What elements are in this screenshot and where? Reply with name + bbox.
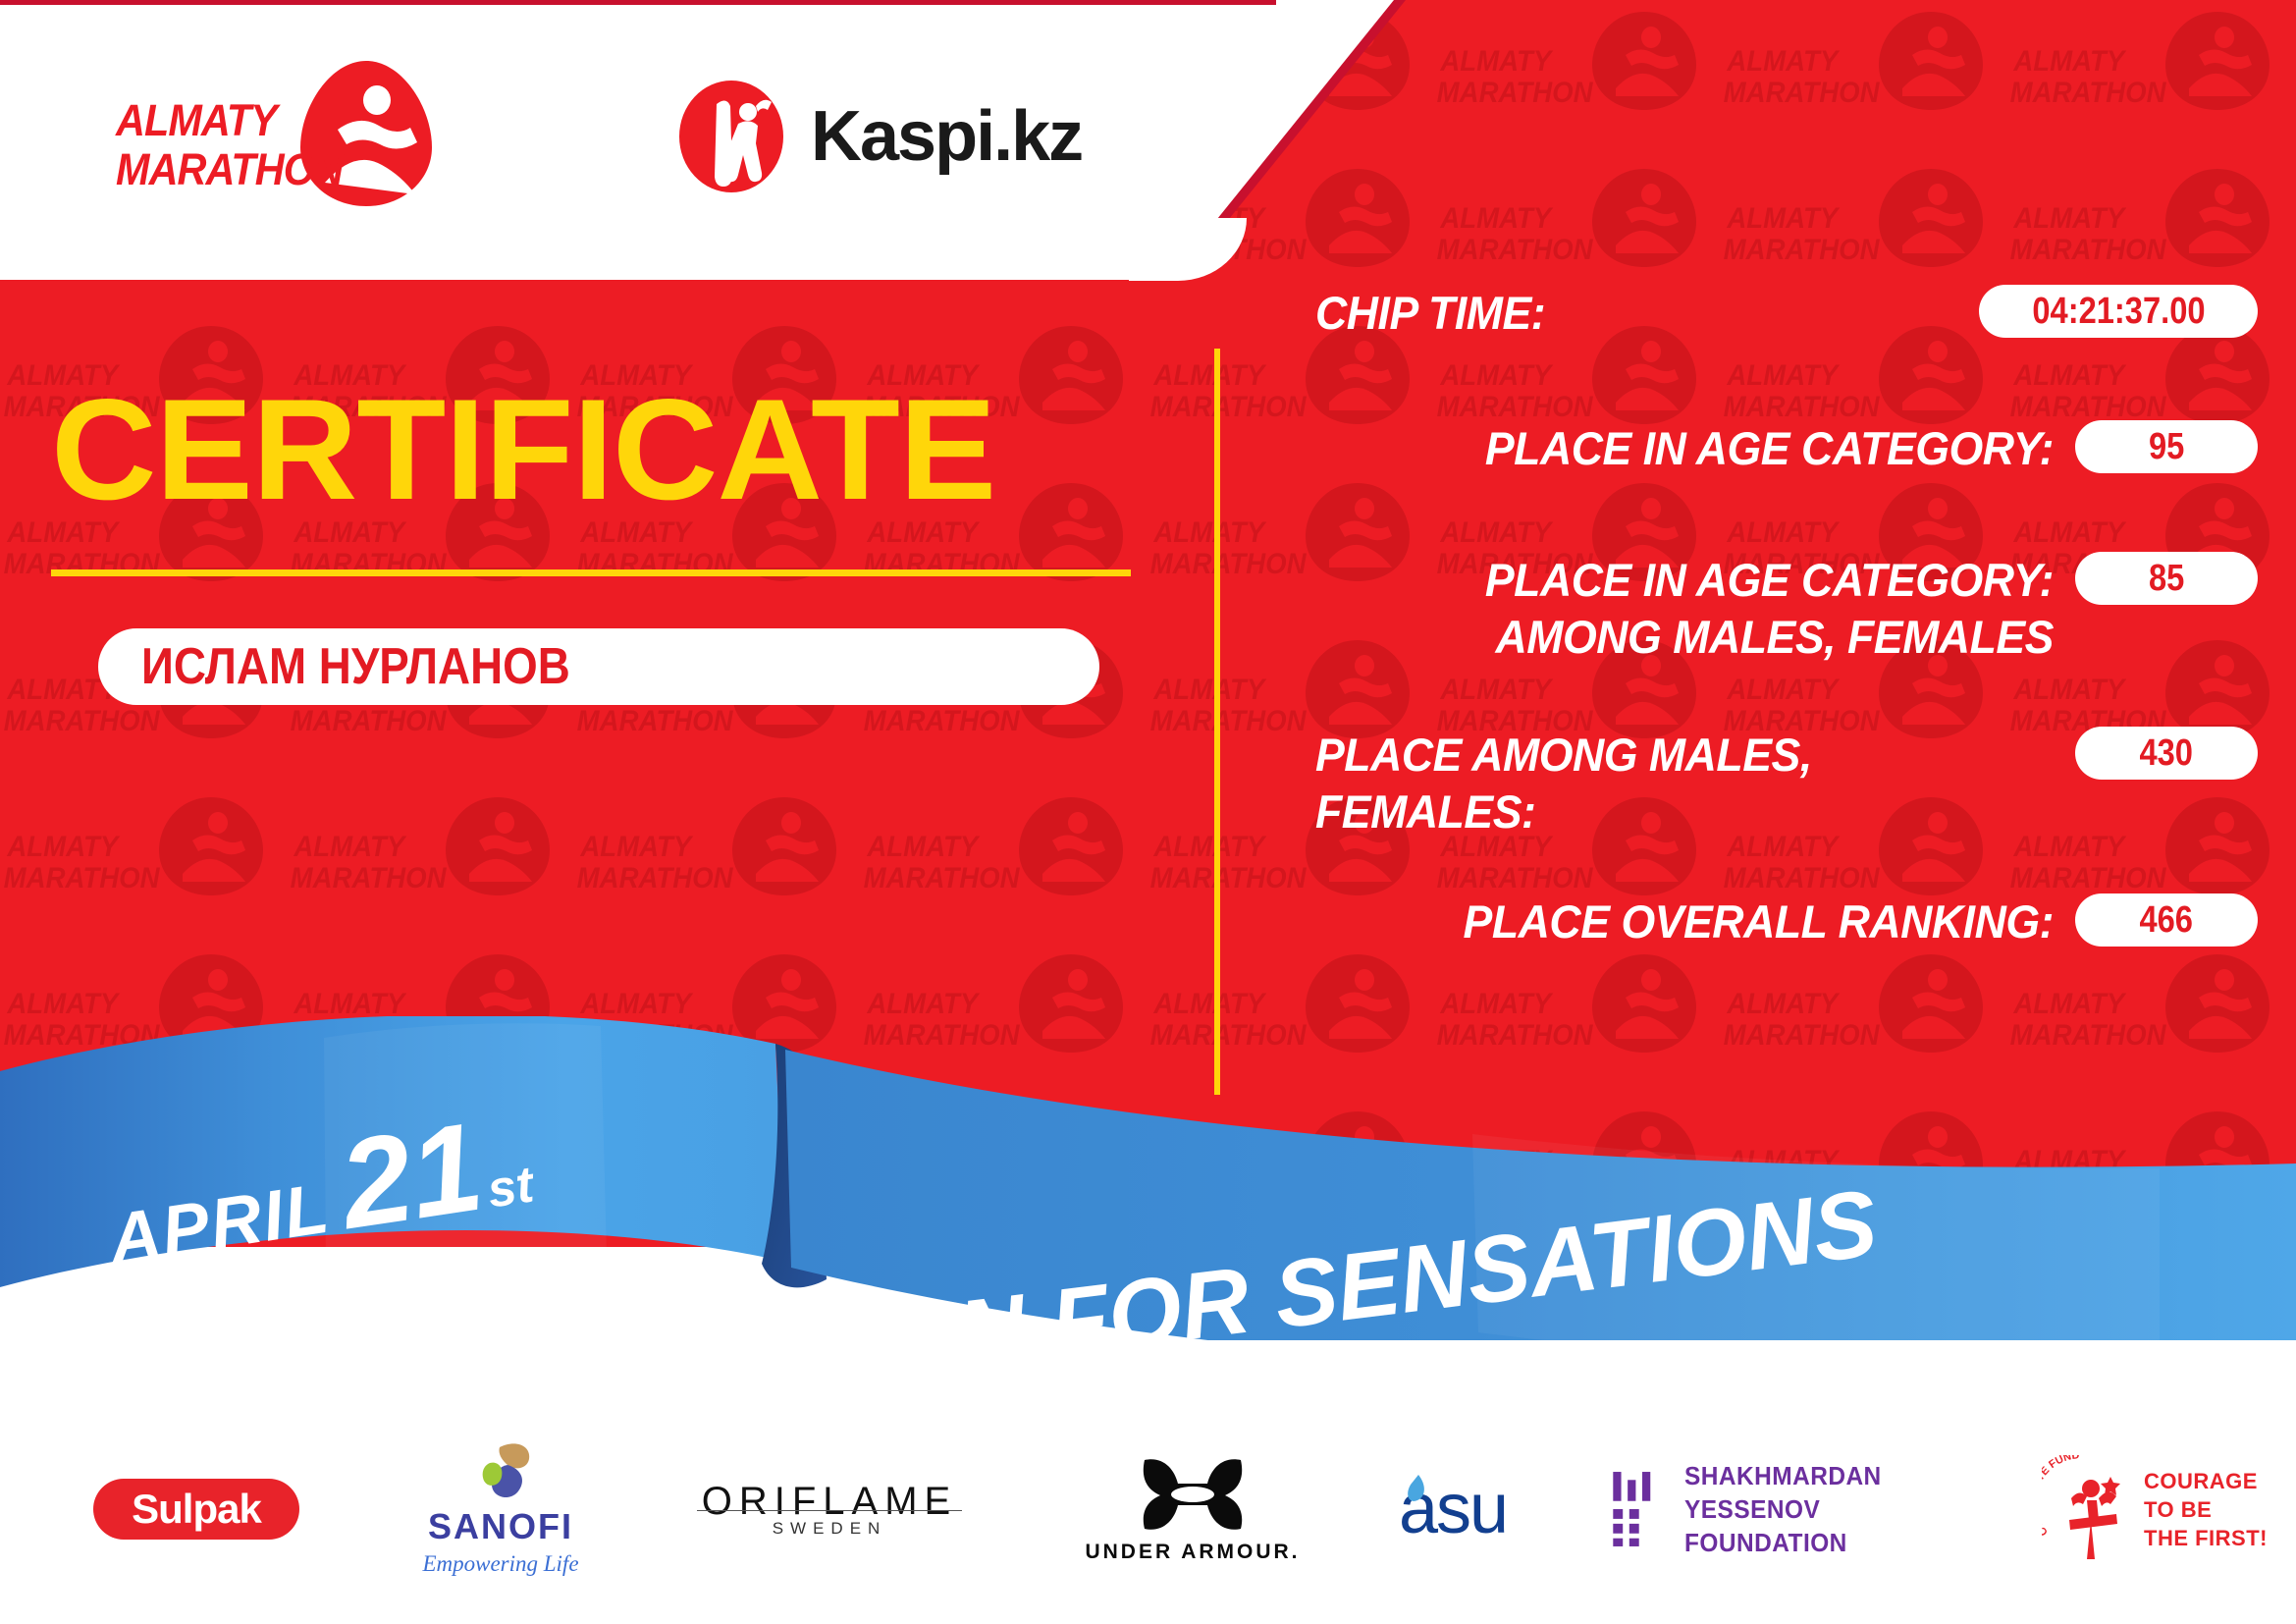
place-overall-row: PLACE OVERALL RANKING: 466 — [1315, 893, 2258, 950]
chip-time-value-pill: 04:21:37.00 — [1979, 285, 2258, 338]
kaspi-person-icon — [677, 79, 785, 194]
oriflame-wordmark: ORIFLAME — [702, 1480, 957, 1524]
chip-time-value: 04:21:37.00 — [2032, 291, 2205, 333]
sponsor-logo-oriflame: ORIFLAME SWEDEN — [687, 1480, 972, 1539]
yessenov-line-2: FOUNDATION — [1684, 1526, 1964, 1559]
place-among-gender-label: PLACE AMONG MALES, FEMALES: — [1315, 727, 2016, 840]
sponsor-logo-courage-fund: CORPORATE FUND COURAGE TO BE THE FIRST! — [2042, 1455, 2268, 1563]
under-armour-wordmark: UNDER ARMOUR. — [1085, 1541, 1300, 1564]
left-column: CERTIFICATE ИСЛАМ НУРЛАНОВ — [0, 285, 1207, 1110]
sulpak-wordmark: Sulpak — [132, 1486, 261, 1533]
logo-line-marathon: MARATHON — [116, 145, 343, 194]
courage-fund-wordmark: COURAGE TO BE THE FIRST! — [2144, 1467, 2268, 1552]
header-logos: ALMATY MARATHON Kaspi.kz — [0, 0, 1129, 267]
sponsor-logo-yessenov: SHAKHMARDAN YESSENOV FOUNDATION — [1610, 1459, 1983, 1559]
chip-time-label: CHIP TIME: — [1315, 285, 1925, 342]
sponsor-logo-sulpak: Sulpak — [93, 1479, 299, 1540]
place-age-category-row: PLACE IN AGE CATEGORY: 95 — [1315, 420, 2258, 477]
place-age-category-value-pill: 95 — [2075, 420, 2258, 473]
label-line-1: PLACE AMONG MALES, — [1315, 727, 2016, 784]
page-title: CERTIFICATE — [51, 378, 995, 521]
under-armour-icon — [1135, 1454, 1251, 1533]
kaspi-wordmark: Kaspi.kz — [811, 96, 1082, 177]
almaty-marathon-logo: ALMATY MARATHON — [116, 59, 440, 211]
place-age-category-value: 95 — [2149, 426, 2184, 468]
place-age-category-label: PLACE IN AGE CATEGORY: — [1353, 420, 2054, 477]
sanofi-wordmark: SANOFI — [428, 1506, 573, 1547]
oriflame-divider — [697, 1510, 962, 1511]
logo-line-almaty: ALMATY — [116, 96, 343, 145]
place-age-category-gender-row: PLACE IN AGE CATEGORY: AMONG MALES, FEMA… — [1315, 552, 2258, 666]
place-overall-label: PLACE OVERALL RANKING: — [1353, 893, 2054, 950]
yessenov-wordmark: SHAKHMARDAN YESSENOV FOUNDATION — [1684, 1459, 1964, 1559]
place-overall-value: 466 — [2140, 899, 2194, 942]
place-overall-value-pill: 466 — [2075, 893, 2258, 947]
chip-time-row: CHIP TIME: 04:21:37.00 — [1315, 285, 2258, 342]
ribbon-day-suffix: st — [484, 1155, 538, 1219]
label-line-2: AMONG MALES, FEMALES — [1353, 609, 2054, 666]
right-column: CHIP TIME: 04:21:37.00 PLACE IN AGE CATE… — [1276, 285, 2296, 1110]
sponsor-bar: Sulpak SANOFI Empowering Life ORIFLAME S… — [0, 1394, 2296, 1624]
sanofi-tagline: Empowering Life — [422, 1551, 578, 1577]
label-line-1: PLACE IN AGE CATEGORY: — [1353, 552, 2054, 609]
participant-name-field: ИСЛАМ НУРЛАНОВ — [98, 628, 1099, 705]
place-age-category-gender-value-pill: 85 — [2075, 552, 2258, 605]
top-hairline — [0, 0, 1276, 5]
oriflame-sub: SWEDEN — [773, 1519, 887, 1539]
ribbon-day: 21 — [334, 1113, 488, 1240]
place-among-gender-row: PLACE AMONG MALES, FEMALES: 430 — [1315, 727, 2258, 840]
certificate-canvas: ALMATY MARATHON ALMATY MARATHON — [0, 0, 2296, 1624]
almaty-marathon-wordmark: ALMATY MARATHON — [116, 96, 343, 194]
asu-droplet-icon — [1403, 1473, 1428, 1512]
sponsor-logo-under-armour: UNDER ARMOUR. — [1070, 1454, 1315, 1564]
column-divider — [1214, 349, 1220, 1095]
courage-line-1: COURAGE — [2144, 1467, 2268, 1495]
place-age-category-gender-value: 85 — [2149, 558, 2184, 600]
sponsor-logo-asu: asu — [1360, 1469, 1546, 1549]
yessenov-line-1: SHAKHMARDAN YESSENOV — [1684, 1459, 1964, 1526]
participant-name: ИСЛАМ НУРЛАНОВ — [141, 637, 570, 696]
title-divider — [51, 569, 1131, 576]
sponsor-logo-sanofi: SANOFI Empowering Life — [393, 1441, 609, 1577]
courage-line-2: TO BE — [2144, 1495, 2268, 1524]
sanofi-mark-icon — [460, 1441, 541, 1500]
yessenov-bars-icon — [1610, 1464, 1663, 1554]
place-age-category-gender-label: PLACE IN AGE CATEGORY: AMONG MALES, FEMA… — [1353, 552, 2054, 666]
courage-line-3: THE FIRST! — [2144, 1524, 2268, 1552]
place-among-gender-value: 430 — [2140, 732, 2194, 775]
courage-fund-icon: CORPORATE FUND — [2042, 1455, 2132, 1563]
kaspi-logo: Kaspi.kz — [677, 79, 1082, 194]
place-among-gender-value-pill: 430 — [2075, 727, 2258, 780]
label-line-2: FEMALES: — [1315, 784, 2016, 840]
